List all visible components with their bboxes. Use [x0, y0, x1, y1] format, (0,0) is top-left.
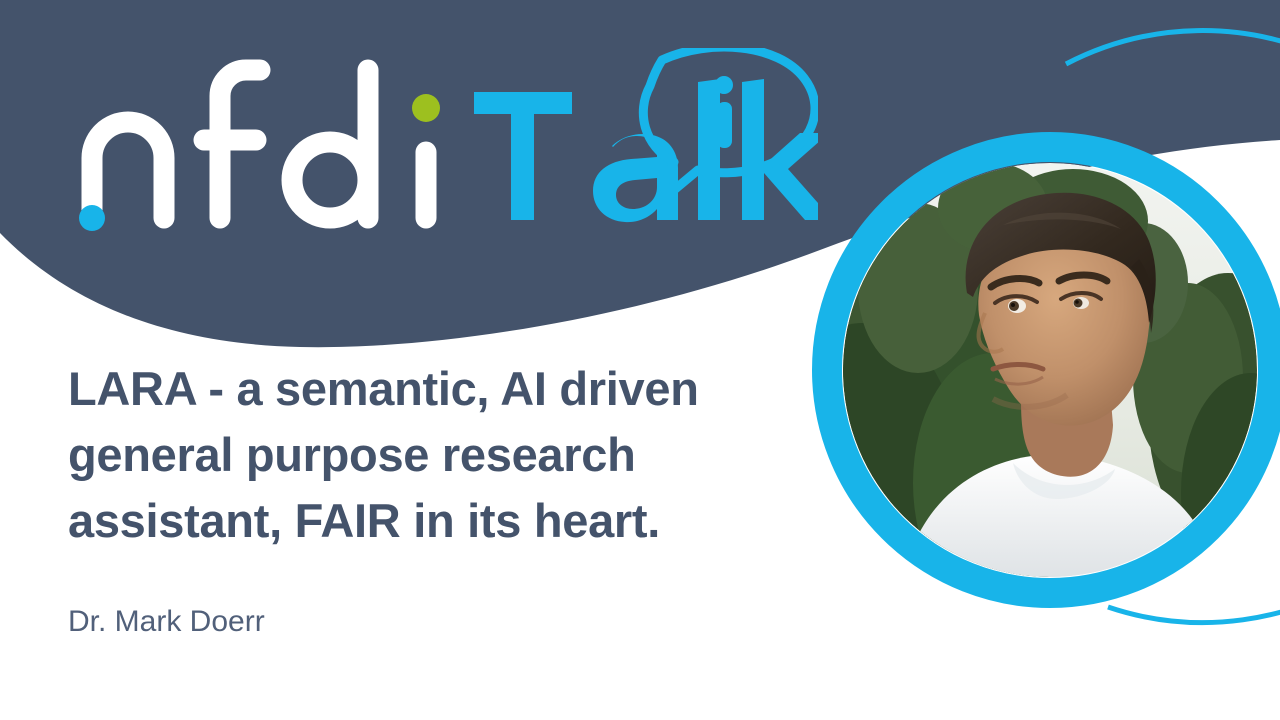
- logo-artwork: [78, 48, 818, 233]
- bubble-i-dot-icon: [715, 76, 733, 94]
- info-speech-bubble-icon: [643, 48, 815, 192]
- logo-cyan-dot-icon: [79, 205, 105, 231]
- talk-text-block: LARA - a semantic, AI driven general pur…: [68, 356, 798, 642]
- slide-root: LARA - a semantic, AI driven general pur…: [0, 0, 1280, 720]
- nfdi-wordmark: [92, 70, 426, 218]
- talk-title: LARA - a semantic, AI driven general pur…: [68, 356, 798, 554]
- portrait-photo-artwork: [843, 163, 1257, 577]
- logo-lime-dot-icon: [412, 94, 440, 122]
- speaker-portrait-block: [812, 132, 1280, 632]
- nfdi-talk-logo: [78, 48, 818, 233]
- speaker-name: Dr. Mark Doerr: [68, 554, 798, 642]
- speaker-avatar: [843, 163, 1257, 577]
- bubble-i-stem-icon: [717, 102, 732, 148]
